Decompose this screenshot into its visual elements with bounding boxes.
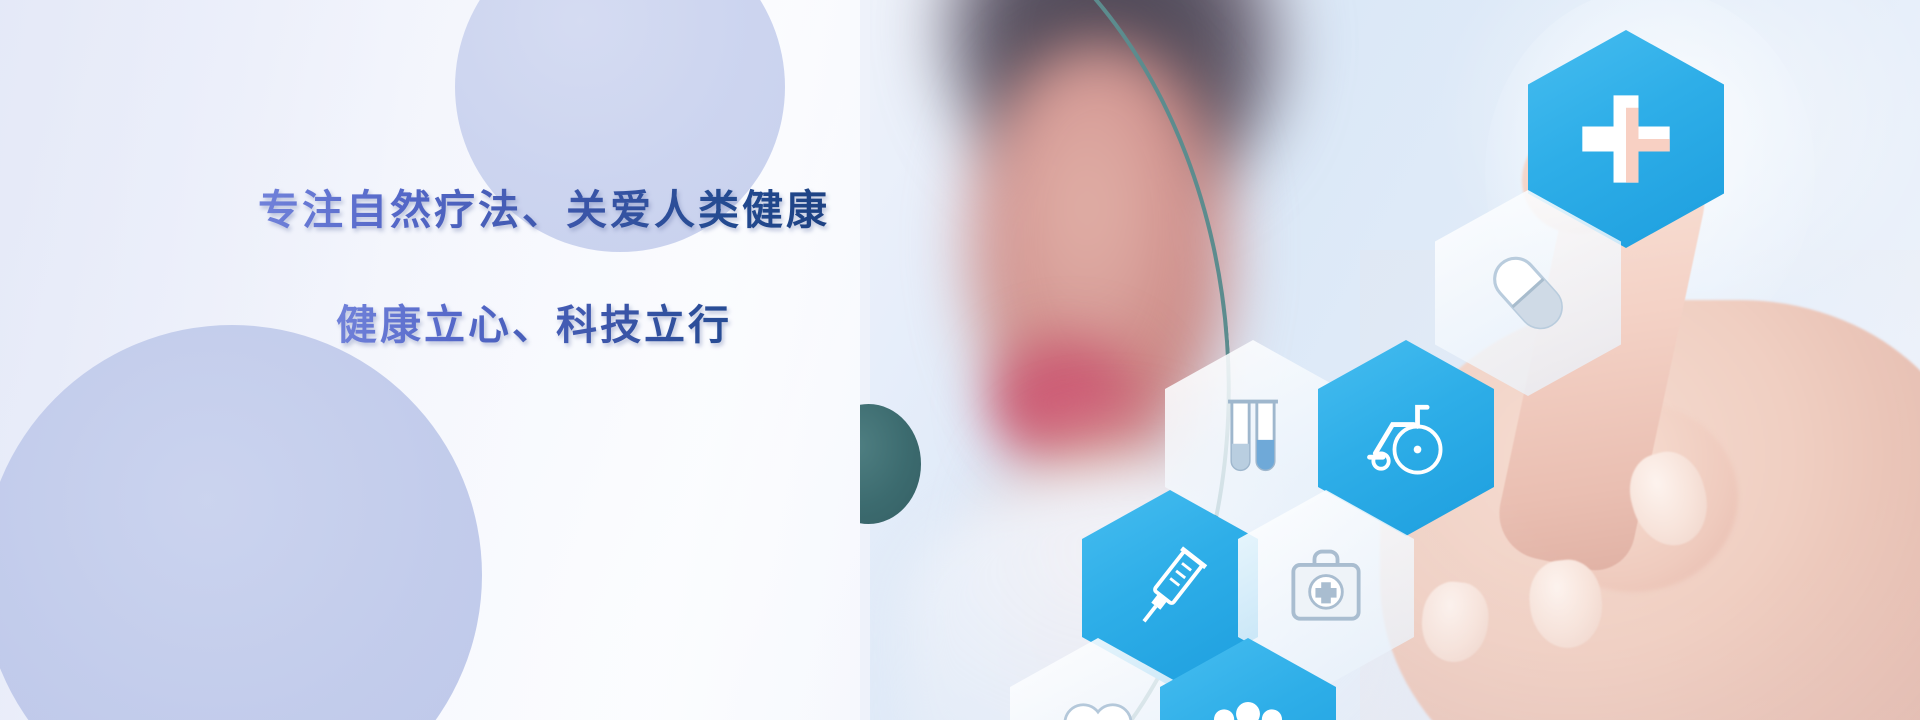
test-tubes-icon [1205, 390, 1301, 486]
heart-icon [1052, 690, 1144, 720]
first-aid-kit-icon [1278, 540, 1374, 636]
medical-cross-icon [1574, 87, 1678, 191]
syringe-icon [1122, 540, 1218, 636]
capsule-pill-icon [1476, 241, 1580, 345]
wheelchair-icon [1358, 390, 1454, 486]
hero-banner: 专注自然疗法、关爱人类健康 健康立心、科技立行 [0, 0, 1920, 720]
headline-line-2: 健康立心、科技立行 [336, 301, 878, 349]
hero-image [860, 0, 1920, 720]
family-group-icon [1202, 690, 1294, 720]
headline-block: 专注自然疗法、关爱人类健康 健康立心、科技立行 [258, 186, 878, 349]
headline-line-1: 专注自然疗法、关爱人类健康 [258, 186, 878, 234]
